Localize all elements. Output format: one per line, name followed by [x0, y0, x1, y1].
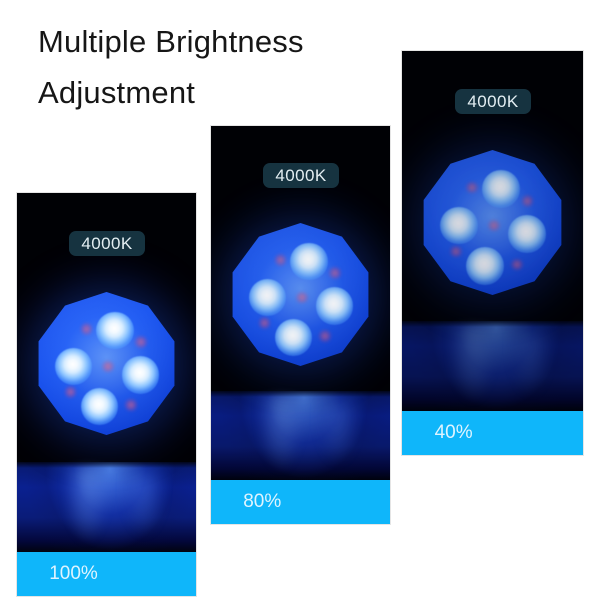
- secondary-emitter-dot: [275, 254, 286, 265]
- led-emitter: [316, 287, 353, 324]
- secondary-emitter-dot: [329, 267, 340, 278]
- led-emitter: [440, 207, 478, 245]
- brightness-panel: 4000K40%: [402, 51, 583, 455]
- surface-glow-smear: [449, 326, 496, 403]
- reflective-surface: [17, 462, 196, 552]
- color-temperature-badge: 4000K: [69, 231, 145, 256]
- secondary-emitter-dot: [296, 292, 307, 303]
- color-temperature-badge: 4000K: [263, 163, 339, 188]
- led-emitter: [122, 356, 159, 393]
- secondary-emitter-dot: [65, 386, 76, 397]
- page-title: Multiple Brightness Adjustment: [38, 16, 458, 118]
- brightness-percentage-label: 100%: [49, 563, 98, 585]
- surface-glow-smear: [258, 396, 305, 473]
- secondary-emitter-dot: [522, 195, 534, 207]
- brightness-level-bar: 80%: [211, 480, 390, 524]
- secondary-emitter-dot: [319, 330, 330, 341]
- lamp-photo: 4000K: [211, 126, 390, 480]
- lamp-photo: 4000K: [17, 193, 196, 552]
- led-emitter: [55, 348, 92, 385]
- secondary-emitter-dot: [450, 246, 462, 258]
- led-emitter: [290, 243, 327, 280]
- brightness-percentage-label: 40%: [435, 422, 473, 444]
- secondary-emitter-dot: [81, 323, 92, 334]
- secondary-emitter-dot: [102, 361, 113, 372]
- color-temperature-badge: 4000K: [455, 89, 531, 114]
- led-emitter: [508, 215, 546, 253]
- secondary-emitter-dot: [259, 317, 270, 328]
- led-emitter: [482, 170, 520, 208]
- lamp-photo: 4000K: [402, 51, 583, 411]
- led-emitter: [249, 279, 286, 316]
- brightness-panel: 4000K100%: [17, 193, 196, 596]
- surface-glow-smear-secondary: [318, 402, 357, 464]
- led-emitter: [275, 319, 312, 356]
- secondary-emitter-dot: [135, 336, 146, 347]
- brightness-percentage-label: 80%: [243, 491, 281, 513]
- surface-glow-smear: [64, 467, 111, 544]
- product-image-stage: Multiple Brightness Adjustment 4000K100%…: [0, 0, 600, 600]
- surface-glow-smear-secondary: [124, 473, 163, 536]
- secondary-emitter-dot: [125, 399, 136, 410]
- secondary-emitter-dot: [488, 220, 500, 232]
- secondary-emitter-dot: [511, 259, 523, 271]
- led-emitter: [466, 247, 504, 285]
- led-emitter: [81, 388, 118, 425]
- surface-glow-smear-secondary: [511, 332, 551, 395]
- brightness-level-bar: 100%: [17, 552, 196, 596]
- brightness-level-bar: 40%: [402, 411, 583, 455]
- secondary-emitter-dot: [466, 182, 478, 194]
- led-emitter: [96, 312, 133, 349]
- brightness-panel: 4000K80%: [211, 126, 390, 524]
